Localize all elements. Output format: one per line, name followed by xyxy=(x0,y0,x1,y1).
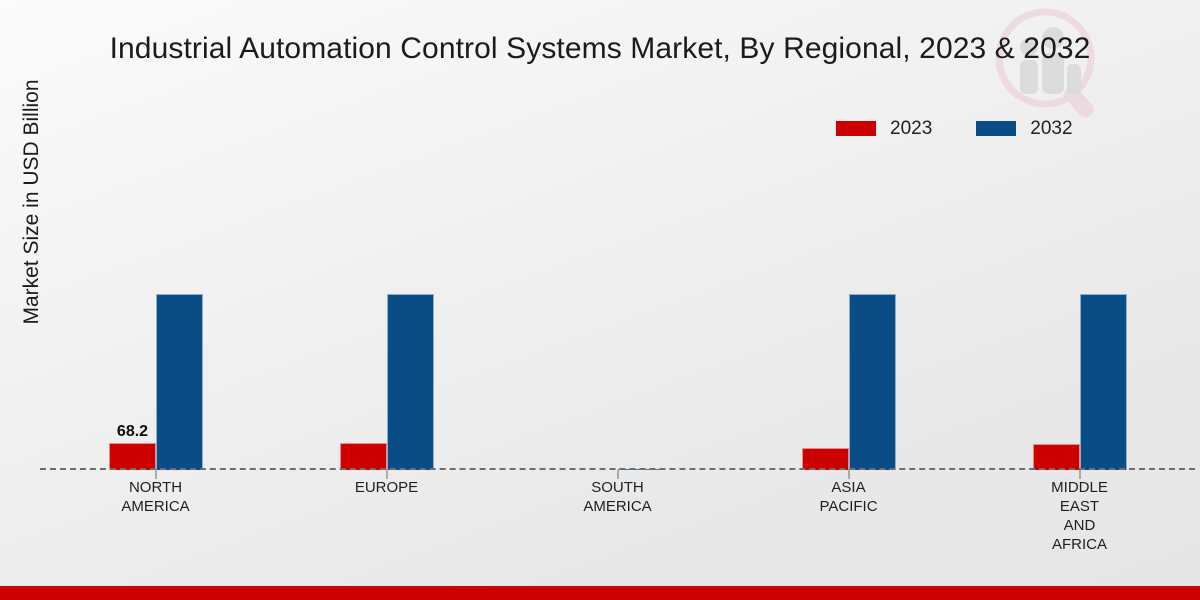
bar-2032[interactable] xyxy=(387,294,434,470)
bar-2032[interactable] xyxy=(1080,294,1127,470)
bar-group-north-america: 68.2 xyxy=(40,160,271,470)
bar-value-label: 68.2 xyxy=(117,423,148,441)
chart-container: Industrial Automation Control Systems Ma… xyxy=(0,0,1200,600)
bar-2032[interactable] xyxy=(849,294,896,470)
plot-area: 68.2 xyxy=(40,160,1195,470)
bar-2023[interactable] xyxy=(802,448,849,470)
x-axis-labels: NORTH AMERICA EUROPE SOUTH AMERICA ASIA … xyxy=(40,478,1195,554)
bar-group-south-america xyxy=(502,160,733,470)
bar-2023[interactable] xyxy=(1033,444,1080,470)
x-axis-baseline xyxy=(40,468,1195,470)
page-title: Industrial Automation Control Systems Ma… xyxy=(0,32,1200,66)
legend-swatch-2032 xyxy=(976,121,1016,136)
x-axis-label-south-america: SOUTH AMERICA xyxy=(502,478,733,554)
bar-2023[interactable] xyxy=(109,443,156,470)
bar-pair xyxy=(571,160,665,470)
footer-accent-bar xyxy=(0,586,1200,600)
x-axis-label-asia-pacific: ASIA PACIFIC xyxy=(733,478,964,554)
legend-swatch-2023 xyxy=(836,121,876,136)
legend-label-2032: 2032 xyxy=(1030,119,1072,138)
x-axis-label-middle-east-and-africa: MIDDLE EAST AND AFRICA xyxy=(964,478,1195,554)
legend-label-2023: 2023 xyxy=(890,119,932,138)
bar-2023[interactable] xyxy=(340,443,387,470)
bar-group-asia-pacific xyxy=(733,160,964,470)
bar-pair xyxy=(340,160,434,470)
bar-groups: 68.2 xyxy=(40,160,1195,470)
x-axis-label-europe: EUROPE xyxy=(271,478,502,554)
bar-group-middle-east-and-africa xyxy=(964,160,1195,470)
legend-item-2023[interactable]: 2023 xyxy=(836,119,932,138)
x-axis-label-north-america: NORTH AMERICA xyxy=(40,478,271,554)
chart-legend: 2023 2032 xyxy=(836,119,1073,138)
bar-pair xyxy=(1033,160,1127,470)
bar-2032[interactable] xyxy=(156,294,203,470)
bar-pair xyxy=(802,160,896,470)
bar-group-europe xyxy=(271,160,502,470)
legend-item-2032[interactable]: 2032 xyxy=(976,119,1072,138)
